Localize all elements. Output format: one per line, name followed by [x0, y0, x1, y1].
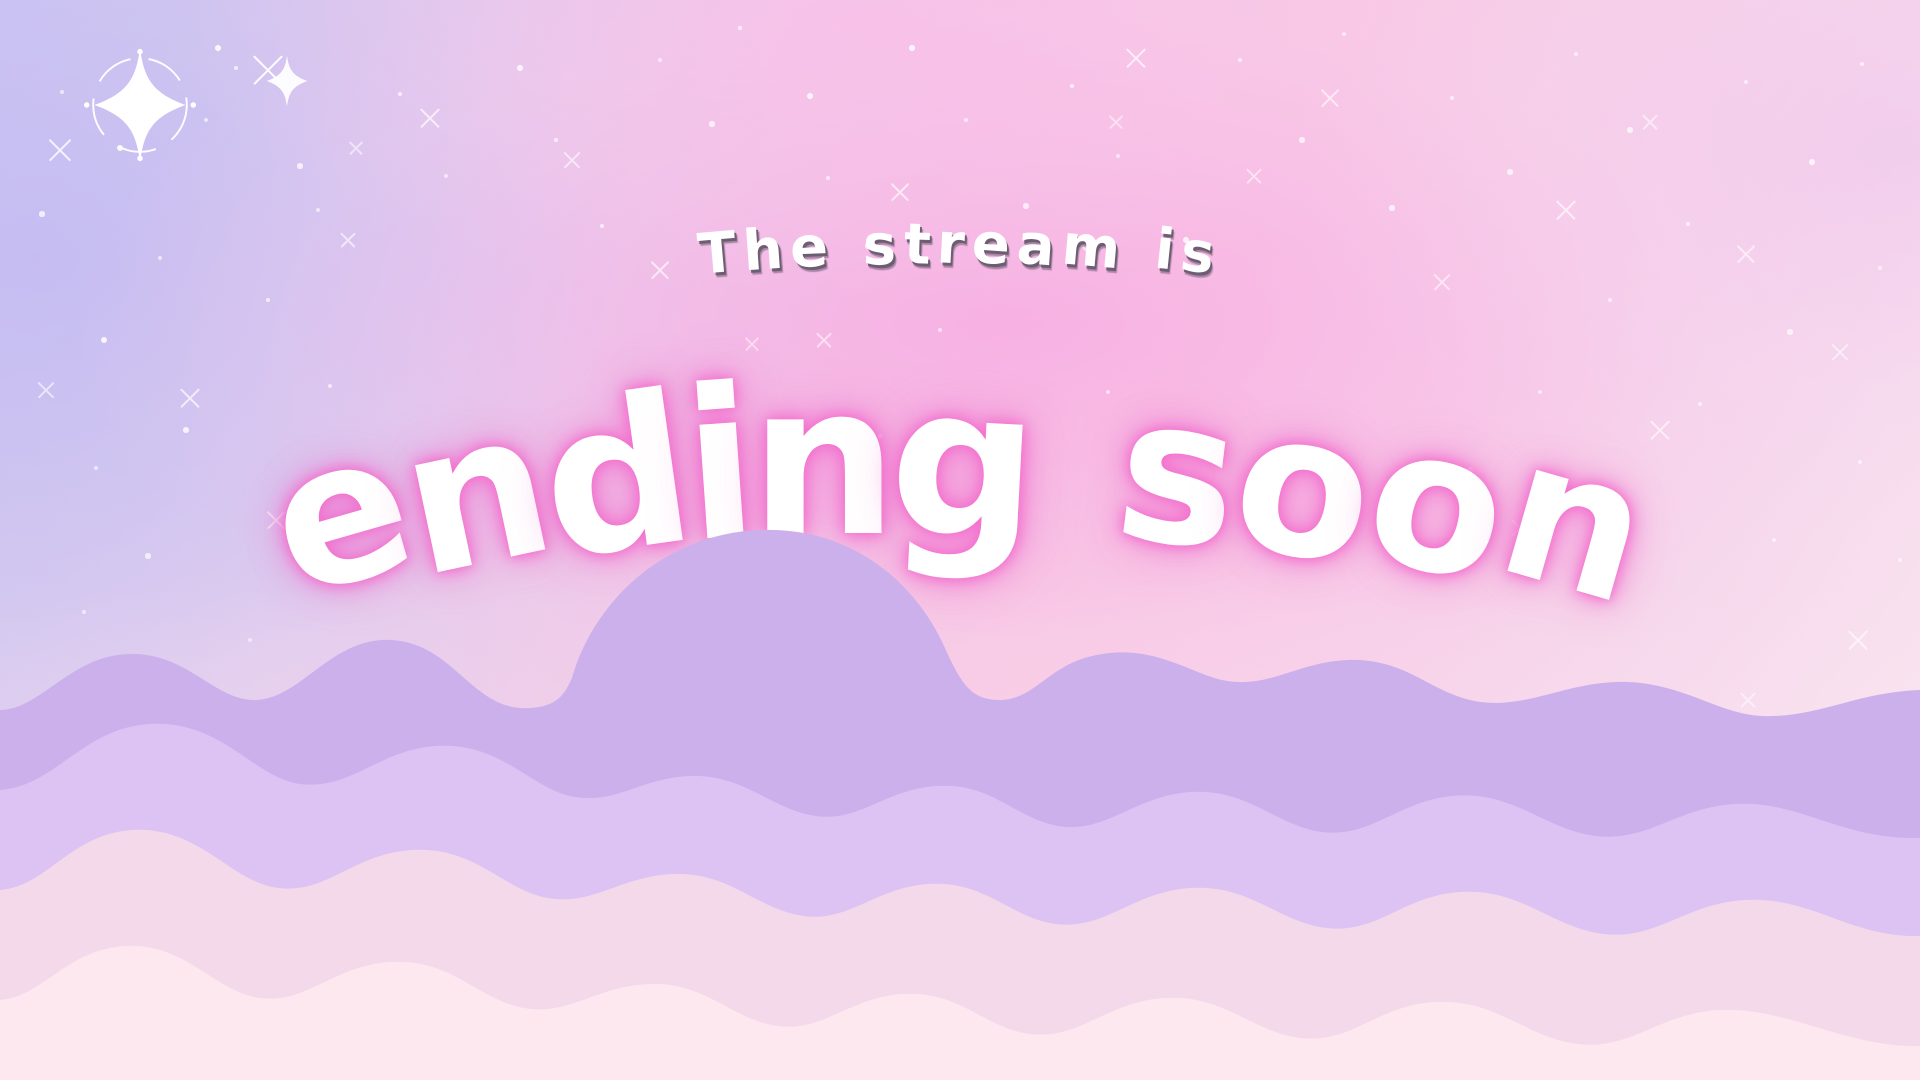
subtitle-char: t	[903, 212, 939, 278]
subtitle-char: h	[741, 216, 792, 284]
subtitle-word: stream	[863, 212, 1127, 277]
subtitle-char: m	[1059, 212, 1130, 282]
subtitle-char: e	[789, 214, 836, 281]
subtitle-char: s	[863, 213, 904, 279]
subtitle-the-stream-is: Thestreamis	[0, 212, 1920, 277]
subtitle-char: T	[696, 219, 747, 288]
cloud-svg	[0, 460, 1920, 1080]
subtitle-char: s	[1178, 219, 1226, 288]
stream-overlay-canvas: Thestreamis endingsoon	[0, 0, 1920, 1080]
subtitle-word: is	[1155, 212, 1222, 277]
subtitle-word: The	[698, 212, 835, 277]
subtitle-char: a	[1015, 212, 1064, 280]
cloud-stack	[0, 460, 1920, 1080]
subtitle-char: r	[936, 211, 974, 278]
subtitle-char: e	[970, 211, 1019, 279]
